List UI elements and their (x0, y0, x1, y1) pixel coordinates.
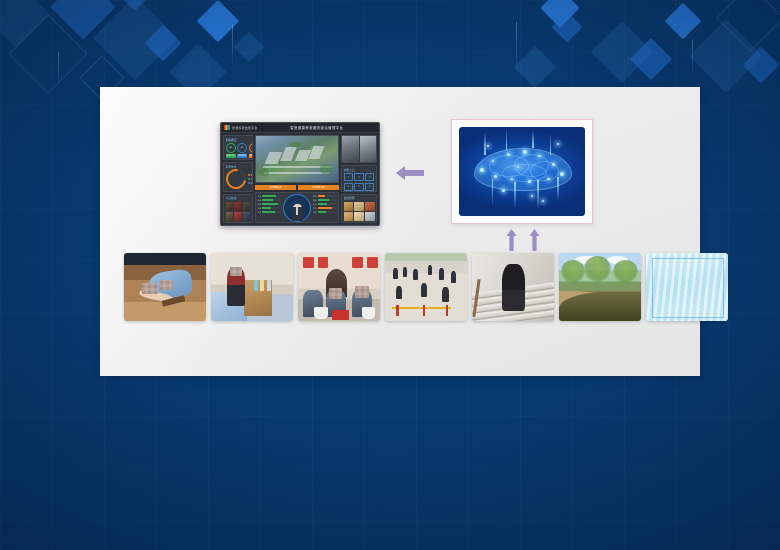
vitals-list: 心率 血压 血氧 体温 步数 (258, 195, 282, 221)
event-row: 用药 (313, 211, 337, 214)
person-icon (292, 204, 303, 221)
face-blur-mask (230, 267, 242, 277)
meal-thumbnail[interactable] (354, 202, 364, 211)
photo-person (421, 283, 427, 297)
event-label: 用药 (313, 211, 317, 214)
event-bar (318, 203, 337, 205)
vitals-row: 血压 (258, 199, 282, 202)
profile-thumbnail[interactable] (234, 212, 242, 221)
thumbs-card-label: 人员档案 (226, 196, 251, 200)
kpi-card-label: 机构概况 (226, 138, 251, 142)
legend-text: 健康监测 62% (251, 174, 254, 177)
donut-chart (223, 165, 249, 191)
photo-subject (502, 264, 525, 312)
gauge-ring-green: 86 (226, 143, 236, 153)
map-greenery (290, 142, 301, 148)
vitals-bar (262, 199, 281, 201)
meal-thumbnail-grid (344, 202, 375, 221)
photo-abstract-texture[interactable] (646, 253, 728, 321)
map-building (308, 146, 325, 159)
dashboard-body: 机构概况 86 在院人数 42 (221, 133, 379, 225)
photo-wall-decor (303, 257, 314, 268)
brain-beam (550, 134, 552, 155)
event-bar (318, 207, 337, 209)
thumbnail-grid (226, 202, 251, 221)
meal-thumbnail[interactable] (365, 212, 375, 221)
park-3d-map-card[interactable] (255, 135, 339, 183)
brain-node (523, 150, 527, 154)
legend-item: 健康监测 62% (248, 174, 251, 177)
event-label: 跌倒 (313, 195, 317, 198)
dashboard-right-column: 功能入口 1 2 3 4 5 6 膳食管理 (341, 135, 377, 223)
function-icon[interactable]: 6 (365, 183, 374, 191)
brain-beam (484, 132, 486, 155)
vitals-label: 血氧 (258, 203, 262, 206)
photo-person (451, 271, 456, 283)
event-row: 呼叫 (313, 207, 337, 210)
photo-person (428, 265, 432, 275)
meal-thumbnail[interactable] (354, 212, 364, 221)
vitals-row: 血氧 (258, 203, 282, 206)
photo-person (403, 267, 407, 277)
map-greenery (320, 164, 333, 174)
event-row: 外出 (313, 203, 337, 206)
platform-logo-icon (224, 125, 230, 130)
ai-brain-image (459, 127, 585, 216)
legend-dot-icon (248, 178, 250, 180)
legend-text: 紧急呼叫 14% (251, 182, 254, 185)
function-icon-card[interactable]: 功能入口 1 2 3 4 5 6 (341, 165, 377, 192)
resident-detail-panel[interactable]: 心率 血压 血氧 体温 步数 跌倒 (255, 192, 339, 223)
profile-thumbnail[interactable] (226, 212, 234, 221)
vitals-bar (262, 211, 281, 213)
meal-gallery-card[interactable]: 膳食管理 (341, 194, 377, 224)
gauge-pill-green: 在院人数 (226, 154, 236, 158)
photo-bedroom-resident[interactable] (211, 253, 293, 321)
function-icon[interactable]: 4 (344, 183, 353, 191)
event-row: 跌倒 (313, 195, 337, 198)
photo-courtyard-crowd[interactable] (385, 253, 467, 321)
event-label: 外出 (313, 203, 317, 206)
resident-avatar[interactable] (283, 194, 311, 222)
donut-card-label: 服务统计 (226, 165, 251, 168)
vitals-bar (262, 207, 281, 209)
decorative-streak (516, 22, 517, 72)
photo-object (267, 280, 271, 291)
decorative-streak (58, 52, 59, 86)
photo-tree (584, 256, 612, 282)
gauge-cell[interactable]: 86 在院人数 (226, 143, 236, 158)
kpi-gauge-card[interactable]: 机构概况 86 在院人数 42 (223, 135, 253, 160)
gauge-pill-blue: 床位使用 (237, 154, 247, 158)
photo-wall-decor (352, 257, 363, 268)
arrow-up-icon (529, 229, 540, 251)
vitals-bar (262, 203, 281, 205)
gauge-row: 86 在院人数 42 床位使用 (226, 143, 251, 158)
donut-wrap: 健康监测 62% 生活照料 24% 紧急呼叫 14% (226, 169, 251, 189)
brain-beam (514, 182, 516, 207)
gauge-value: 42 (241, 147, 243, 149)
vitals-label: 体温 (258, 207, 262, 210)
brain-node (528, 180, 531, 183)
function-icon[interactable]: 1 (344, 173, 353, 181)
photo-post (423, 305, 425, 316)
meal-thumbnail[interactable] (344, 202, 354, 211)
photo-wall-decor (318, 257, 329, 268)
photo-post (396, 305, 398, 316)
event-bar (318, 199, 337, 201)
brain-node (507, 153, 510, 156)
alert-header-bar[interactable]: 实时预警信息 (255, 185, 296, 190)
profile-thumbnail[interactable] (234, 202, 242, 211)
event-bar (318, 211, 337, 213)
photo-object (332, 310, 348, 320)
photo-fallen-elder[interactable] (124, 253, 206, 321)
meal-thumbnail[interactable] (365, 202, 375, 211)
event-row: 离床 (313, 199, 337, 202)
brain-node (557, 143, 559, 145)
gauge-cell[interactable]: 42 床位使用 (237, 143, 247, 158)
dashboard-center-column: 实时预警信息 今日服务记录 心率 血压 血氧 体温 步数 (255, 135, 339, 223)
meal-thumbnail[interactable] (344, 212, 354, 221)
photo-water (559, 292, 641, 321)
slide-content-panel: 智慧养老监管平台 智慧健康养老服务综合管理平台 机构概况 86 在院人数 (100, 87, 700, 376)
brain-beam (557, 177, 559, 200)
gauge-cell[interactable]: 17 预警数量 (249, 143, 254, 158)
dashboard-title: 智慧健康养老服务综合管理平台 (258, 125, 376, 130)
map-greenery (259, 168, 269, 176)
resident-avatar-block (283, 195, 311, 221)
function-icon-grid: 1 2 3 4 5 6 (344, 173, 375, 191)
camera-feed-tile[interactable] (360, 136, 377, 162)
brain-node (552, 163, 555, 166)
brain-beam (532, 131, 534, 149)
photo-person (413, 269, 418, 280)
gauge-ring-orange: 17 (249, 143, 254, 153)
profile-thumbnail[interactable] (243, 202, 251, 211)
photo-activity-room[interactable] (298, 253, 380, 321)
service-header-bar[interactable]: 今日服务记录 (298, 185, 339, 190)
photo-post (446, 305, 448, 316)
photo-inner-frame (652, 258, 725, 318)
park-3d-map-image (256, 136, 338, 182)
photo-person (393, 268, 398, 279)
brain-beam (506, 129, 508, 150)
photo-man-on-stairs[interactable] (472, 253, 554, 321)
gauge-pill-orange: 预警数量 (249, 154, 254, 158)
photo-object (362, 307, 375, 319)
brain-node (502, 189, 505, 192)
camera-feed-tile[interactable] (342, 136, 359, 162)
vitals-row: 体温 (258, 207, 282, 210)
vitals-label: 心率 (258, 195, 262, 198)
scenario-photo-strip (124, 253, 690, 321)
face-blur-mask (160, 280, 173, 290)
photo-object (254, 280, 258, 291)
function-icon[interactable]: 2 (354, 173, 363, 181)
face-blur-mask (329, 288, 342, 299)
dashboard-screenshot[interactable]: 智慧养老监管平台 智慧健康养老服务综合管理平台 机构概况 86 在院人数 (220, 122, 380, 226)
vitals-label: 步数 (258, 211, 262, 214)
vitals-label: 血压 (258, 199, 262, 202)
legend-dot-icon (248, 182, 250, 184)
event-label: 离床 (313, 199, 317, 202)
decorative-streak (232, 24, 233, 70)
donut-chart-card[interactable]: 服务统计 健康监测 62% 生活照料 24% (223, 162, 253, 191)
gauge-value: 86 (229, 147, 231, 149)
brain-beam (537, 180, 539, 208)
section-header-bars: 实时预警信息 今日服务记录 (255, 185, 339, 190)
decorative-streak (692, 40, 693, 78)
arrow-left-icon (396, 165, 424, 181)
food-card-label: 膳食管理 (344, 196, 375, 200)
vitals-row: 心率 (258, 195, 282, 198)
donut-legend: 健康监测 62% 生活照料 24% 紧急呼叫 14% (248, 174, 251, 185)
gauge-ring-blue: 42 (237, 143, 247, 153)
legend-item: 生活照料 24% (248, 178, 251, 181)
brain-node (487, 145, 490, 148)
profile-thumbnails-card[interactable]: 人员档案 (223, 194, 253, 224)
slide-root: 智慧养老监管平台 智慧健康养老服务综合管理平台 机构概况 86 在院人数 (0, 0, 780, 550)
photo-cordon-tape (392, 307, 451, 309)
brain-node (538, 155, 541, 158)
legend-dot-icon (248, 174, 250, 176)
legend-text: 生活照料 24% (251, 178, 254, 181)
face-blur-mask (142, 283, 158, 294)
photo-object (260, 280, 264, 291)
panel-sheen (100, 87, 700, 376)
gauge-value: 17 (252, 147, 253, 149)
photo-person (442, 287, 449, 302)
ai-brain-card[interactable] (451, 119, 593, 224)
legend-item: 紧急呼叫 14% (248, 182, 251, 185)
event-bar (318, 195, 337, 197)
function-icon[interactable]: 5 (354, 183, 363, 191)
photo-person (396, 286, 402, 300)
arrow-up-icon (506, 229, 517, 251)
dashboard-left-column: 机构概况 86 在院人数 42 (223, 135, 253, 223)
camera-feed-card[interactable] (341, 135, 377, 163)
profile-thumbnail[interactable] (243, 212, 251, 221)
function-icon[interactable]: 3 (365, 173, 374, 181)
photo-object (314, 307, 327, 319)
photo-tree (613, 260, 638, 283)
photo-lakeside-park[interactable] (559, 253, 641, 321)
photo-person (439, 268, 444, 280)
event-list: 跌倒 离床 外出 呼叫 用药 (313, 195, 337, 221)
brain-node (547, 178, 550, 181)
brain-node (531, 195, 534, 198)
dashboard-brand: 智慧养老监管平台 (232, 126, 258, 130)
face-blur-mask (355, 286, 369, 298)
event-label: 呼叫 (313, 207, 317, 210)
vitals-row: 步数 (258, 211, 282, 214)
dashboard-topbar: 智慧养老监管平台 智慧健康养老服务综合管理平台 (221, 123, 379, 133)
brain-beam (492, 179, 494, 206)
vitals-bar (262, 195, 281, 197)
photo-wall-decor (367, 257, 378, 268)
icons-card-label: 功能入口 (344, 168, 375, 172)
profile-thumbnail[interactable] (226, 202, 234, 211)
brain-node (560, 172, 564, 176)
brain-node (542, 200, 544, 202)
photo-tree (561, 260, 586, 283)
